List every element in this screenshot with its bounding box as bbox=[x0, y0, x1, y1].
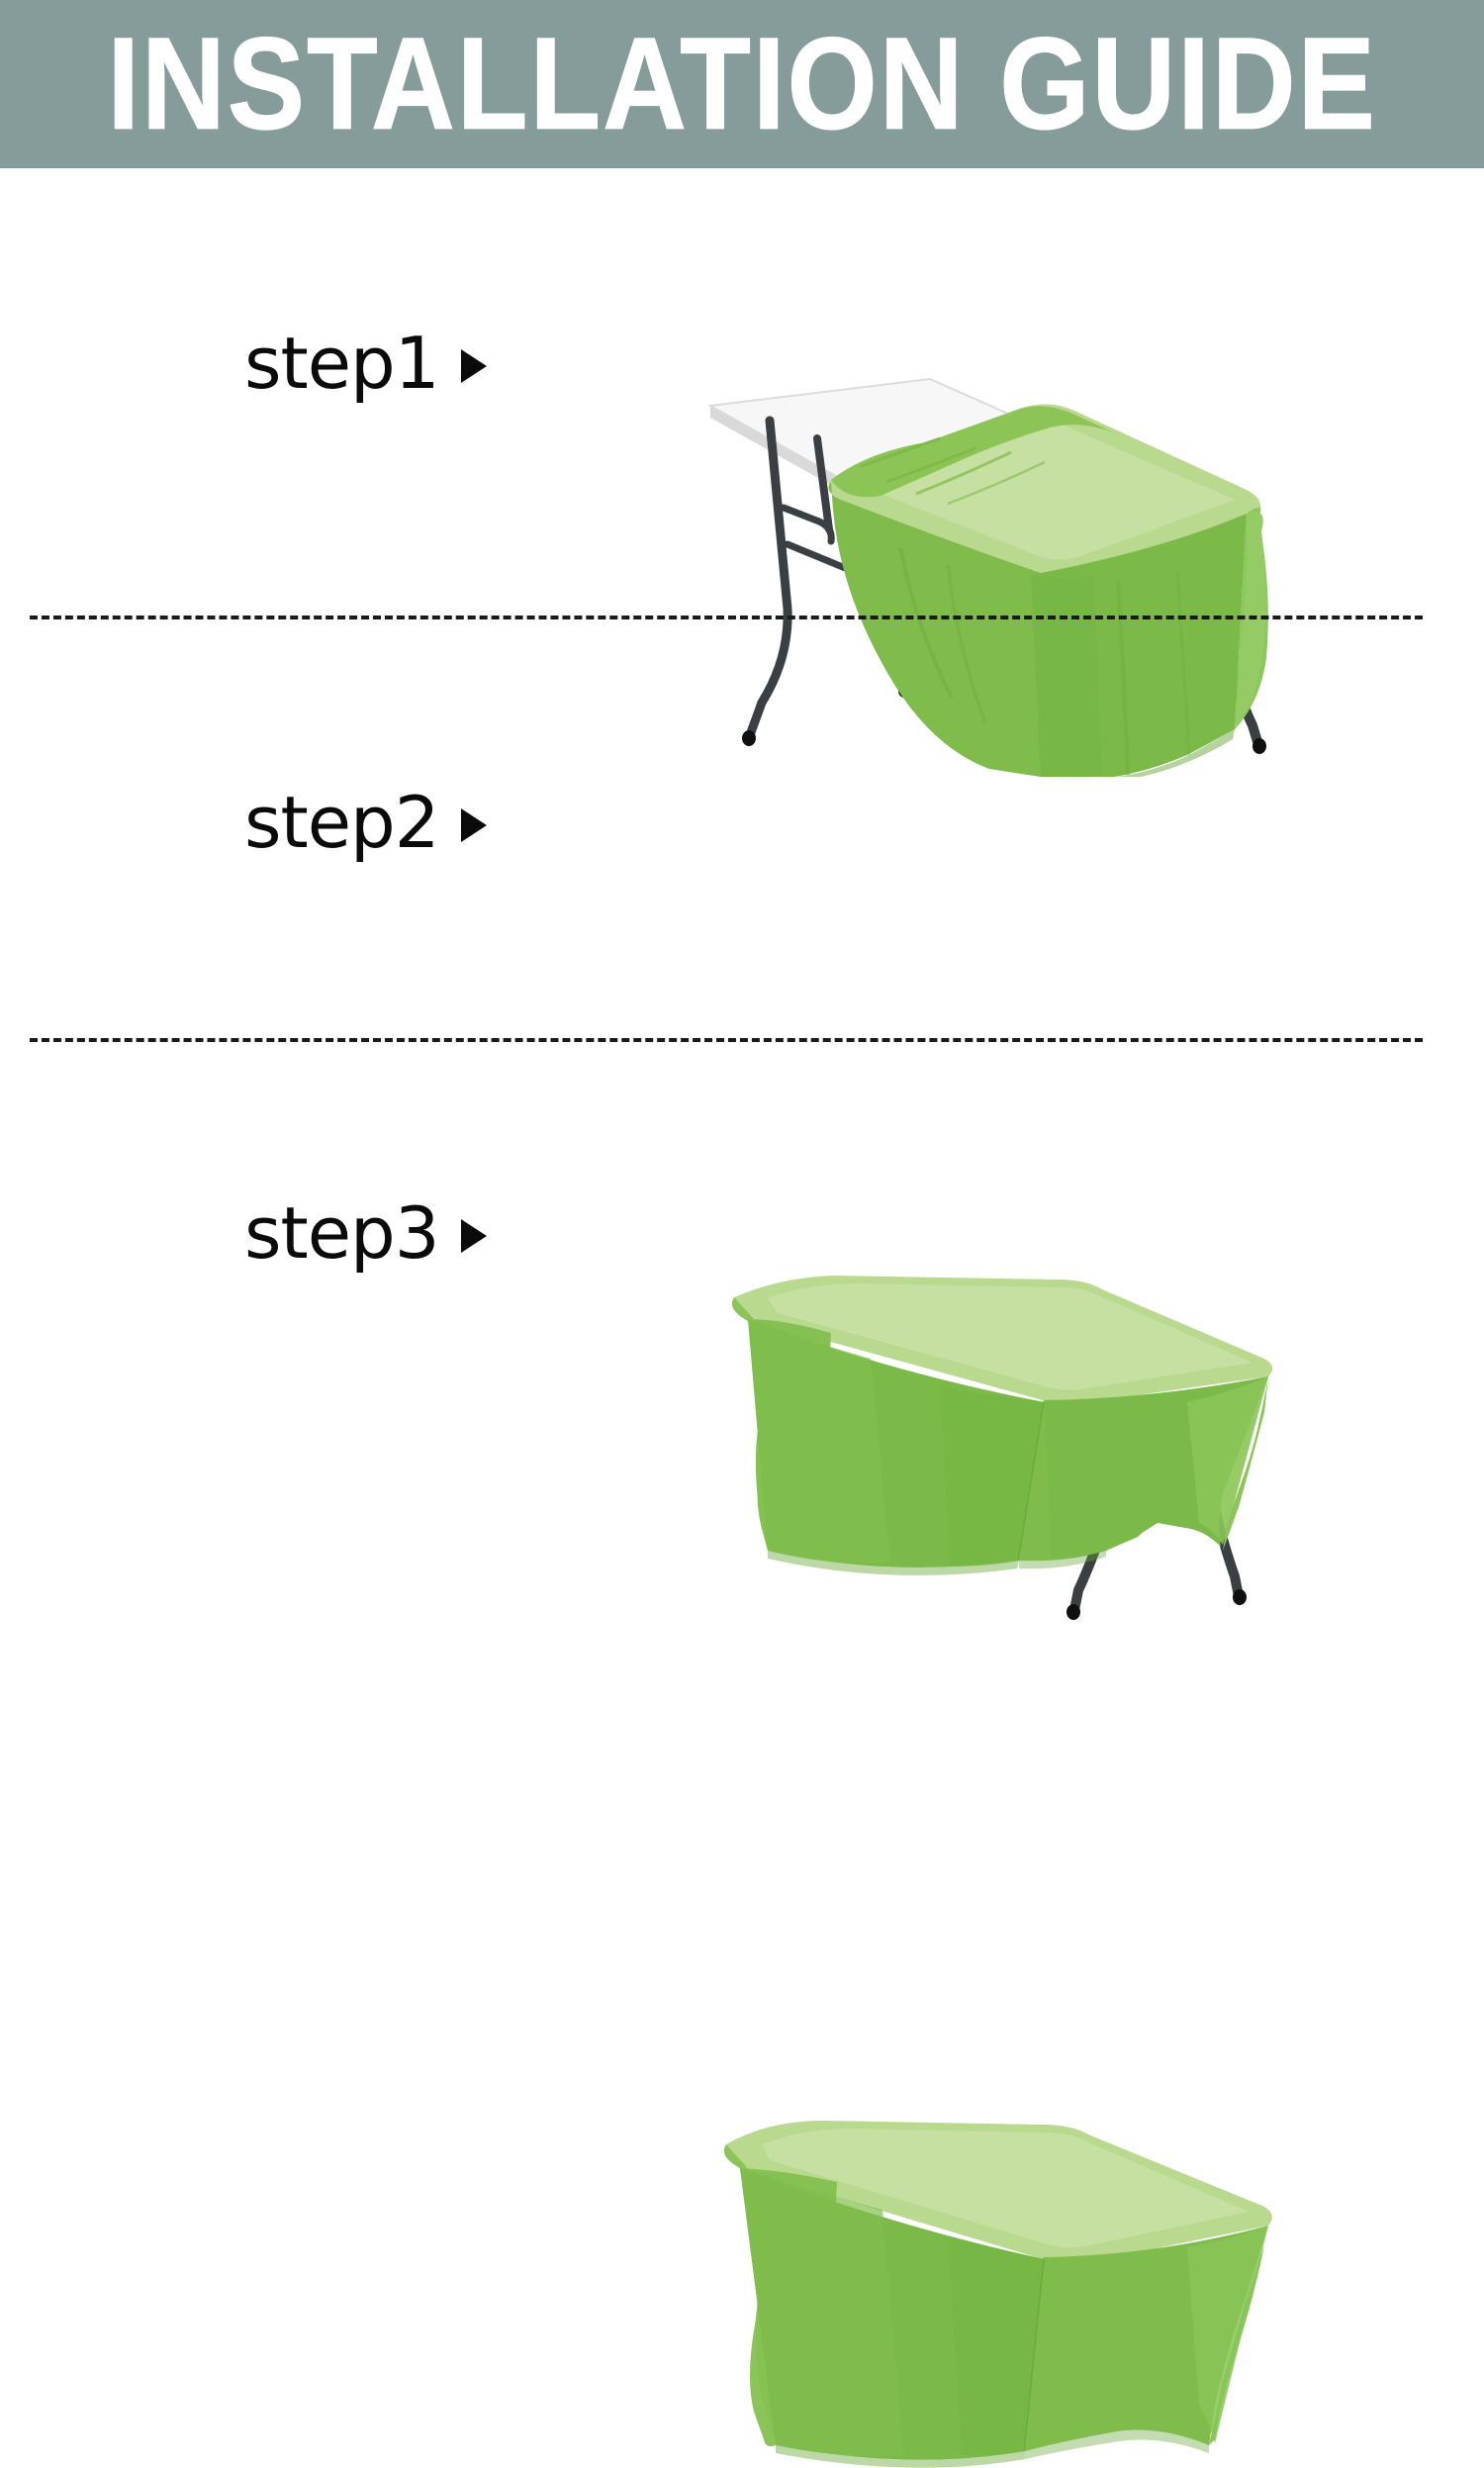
step-label-3: step3 bbox=[244, 1191, 487, 1275]
step-label-2: step2 bbox=[244, 781, 487, 864]
illustration-step-3 bbox=[693, 2097, 1286, 2468]
page-title: INSTALLATION GUIDE bbox=[107, 19, 1376, 149]
play-triangle-icon bbox=[461, 349, 487, 383]
play-triangle-icon bbox=[461, 808, 487, 842]
header-banner: INSTALLATION GUIDE bbox=[0, 0, 1484, 168]
step-row-3: step3 bbox=[0, 1038, 1484, 1434]
step-row-2: step2 bbox=[0, 616, 1484, 1038]
step-label-2-text: step2 bbox=[244, 781, 439, 864]
step-label-1: step1 bbox=[244, 322, 487, 405]
step-row-1: step1 bbox=[0, 168, 1484, 616]
play-triangle-icon bbox=[461, 1219, 487, 1253]
step-label-1-text: step1 bbox=[244, 322, 439, 405]
step-label-3-text: step3 bbox=[244, 1191, 439, 1275]
